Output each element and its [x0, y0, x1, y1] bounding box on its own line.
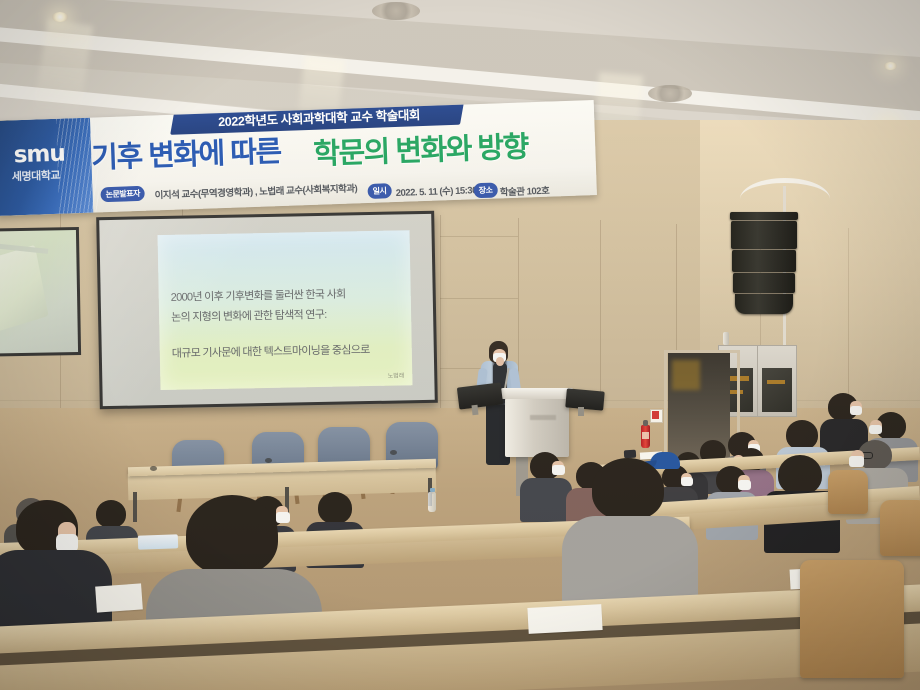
rack-bottle	[723, 332, 729, 345]
lecture-hall-photo: smu 세명대학교 2022학년도 사회과학대학 교수 학술대회 기후 변화에 …	[0, 0, 920, 690]
fire-extinguisher-nozzle	[643, 420, 648, 426]
place-label-pill: 장소	[473, 182, 497, 198]
chair-mid-right	[880, 500, 920, 556]
presenter-label-pill: 논문발표자	[100, 186, 145, 203]
secondary-screen-image	[0, 245, 49, 334]
av-equipment-rack	[757, 345, 797, 417]
logo-text-smu: smu	[0, 140, 88, 169]
water-bottle	[428, 492, 436, 512]
datetime-label-pill: 일시	[367, 183, 391, 199]
lectern-top	[500, 388, 574, 399]
datetime-value: 2022. 5. 11 (수) 15:30	[395, 182, 477, 199]
table-microphone	[390, 450, 397, 455]
presenter-names: 이지석 교수(무역경영학과) , 노법래 교수(사회복지학과)	[154, 180, 357, 201]
banner-title-green: 학문의 변화와 방향	[313, 123, 529, 172]
secondary-screen-surface	[0, 230, 78, 354]
screen-glare	[99, 214, 435, 406]
fire-extinguisher-label	[642, 432, 649, 439]
place-value: 학술관 102호	[500, 183, 550, 199]
line-array-speaker	[728, 212, 800, 322]
banner-title-blue: 기후 변화에 따른	[91, 128, 282, 177]
lectern-monitor-right	[565, 388, 605, 410]
presenter-hand	[496, 357, 504, 366]
lectern	[505, 395, 569, 457]
notepad	[95, 583, 143, 612]
projection-screen: 2000년 이후 기후변화를 둘러싼 한국 사회 논의 지형의 변화에 관한 탐…	[96, 211, 438, 409]
chair-mid-right	[828, 470, 868, 514]
logo-text-korean: 세명대학교	[0, 166, 84, 185]
table-microphone	[150, 466, 157, 471]
secondary-projection-screen	[0, 227, 81, 357]
ceiling-spot-light	[52, 12, 68, 22]
fire-equipment-sign-icon	[652, 411, 659, 419]
air-vent	[648, 85, 692, 102]
table-microphone	[265, 458, 272, 463]
ceiling-spot-light	[884, 62, 897, 70]
lectern-logo	[530, 415, 556, 420]
chair-foreground-right	[800, 560, 904, 678]
air-vent	[372, 2, 420, 20]
tissue-box	[138, 534, 178, 549]
document	[527, 604, 602, 634]
mobile-phone	[624, 450, 636, 459]
